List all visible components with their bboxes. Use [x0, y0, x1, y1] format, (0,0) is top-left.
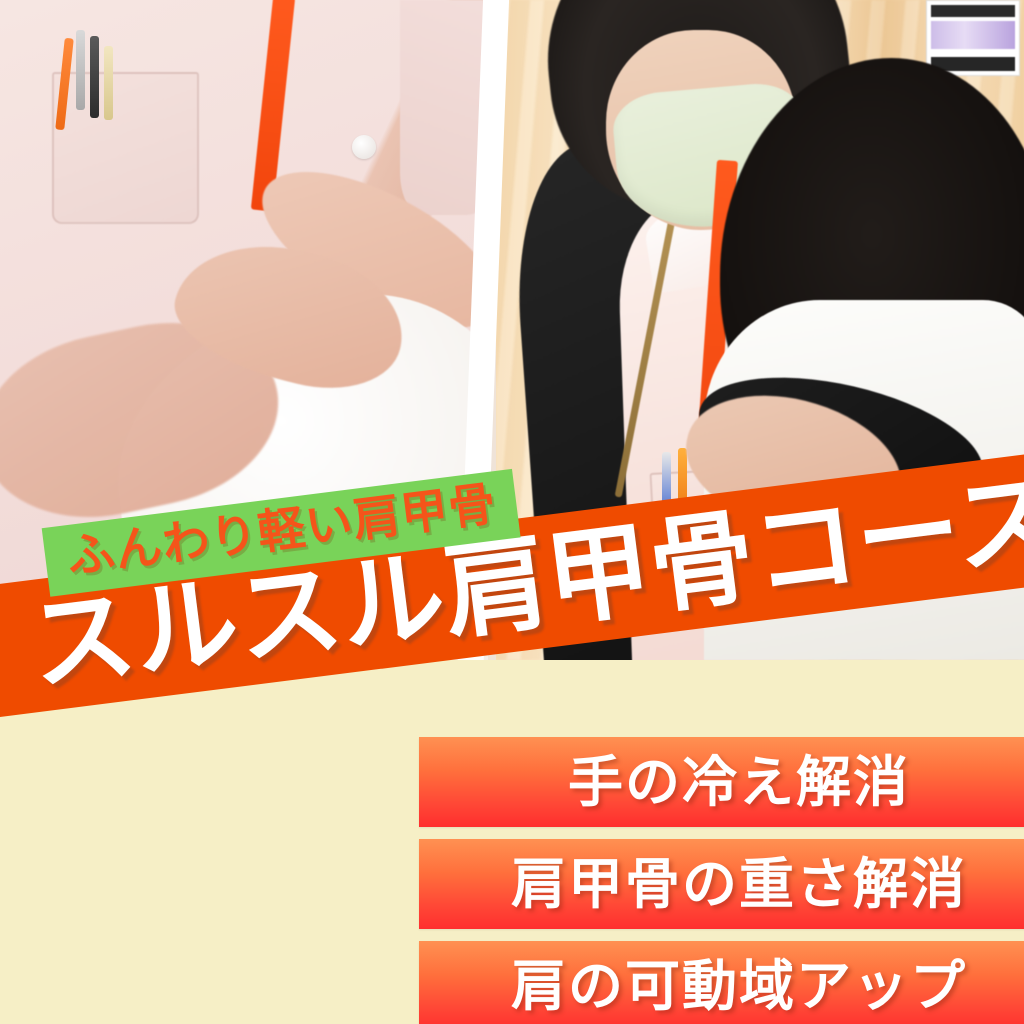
uniform-sleeve-shape [400, 0, 488, 215]
benefit-bar-label: 手の冷え解消 [568, 755, 910, 810]
benefit-bar-label: 肩の可動域アップ [511, 959, 967, 1014]
uniform-button-shape [352, 135, 376, 159]
benefit-bar-list: 手の冷え解消 肩甲骨の重さ解消 肩の可動域アップ [419, 737, 1024, 1024]
uniform-pocket-shape [52, 72, 199, 224]
benefit-bar-label: 肩甲骨の重さ解消 [511, 857, 967, 912]
benefit-bar: 手の冷え解消 [419, 737, 1024, 827]
benefit-bar: 肩の可動域アップ [419, 941, 1024, 1024]
pen-dark-icon [90, 36, 99, 118]
promo-poster: スルスル肩甲骨コース ふんわり軽い肩甲骨 手の冷え解消 肩甲骨の重さ解消 肩の可… [0, 0, 1024, 1024]
wall-poster-body-band [931, 21, 1015, 49]
pen-silver-icon [76, 30, 85, 110]
pen-cream-icon [104, 46, 113, 120]
wall-poster-shape [926, 0, 1020, 76]
benefit-bar: 肩甲骨の重さ解消 [419, 839, 1024, 929]
wall-poster-header-band [931, 5, 1015, 17]
